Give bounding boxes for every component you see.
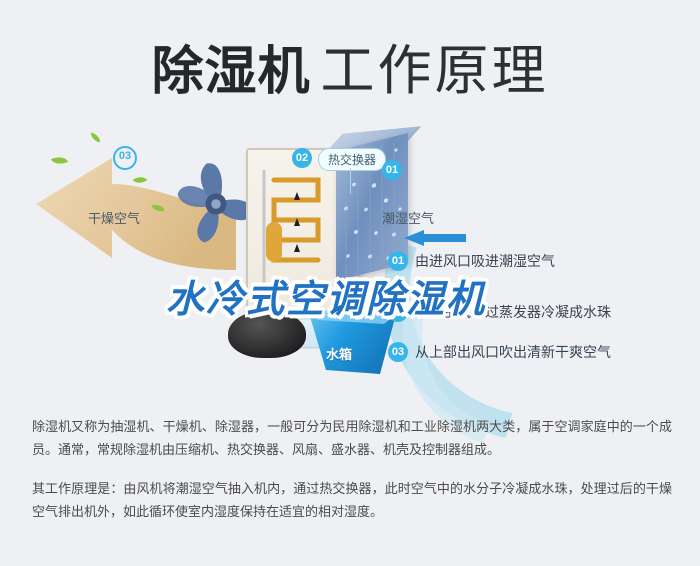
- description-paragraph-1: 除湿机又称为抽湿机、干燥机、除湿器，一般可分为民用除湿机和工业除湿机两大类，属于…: [32, 415, 672, 461]
- page-title-primary: 除湿机: [151, 43, 310, 101]
- watermark-text: 水冷式空调除湿机: [166, 268, 486, 323]
- callout-tail: [350, 168, 351, 194]
- page-title-secondary: 工作原理: [321, 41, 549, 101]
- label-dry-air: 干燥空气: [88, 208, 140, 227]
- badge-heat-exchanger: 02: [292, 148, 312, 168]
- label-water-tank: 水箱: [326, 344, 352, 363]
- infographic-page: 除湿机工作原理: [0, 0, 700, 566]
- page-title: 除湿机工作原理: [0, 26, 700, 105]
- watermark-label: 水冷式空调除湿机: [166, 279, 486, 321]
- leaf-icon-2: [89, 132, 102, 142]
- step-badge-03: 03: [388, 342, 408, 362]
- label-humid-air: 潮湿空气: [382, 208, 434, 227]
- step-row-3: 03 从上部出风口吹出清新干爽空气: [388, 342, 611, 362]
- badge-dry-air: 03: [113, 146, 137, 170]
- air-inlet-arrow-icon: [404, 230, 466, 246]
- step-text-03: 从上部出风口吹出清新干爽空气: [415, 342, 611, 362]
- description-block: 除湿机又称为抽湿机、干燥机、除湿器，一般可分为民用除湿机和工业除湿机两大类，属于…: [32, 415, 672, 539]
- badge-humid-air: 01: [382, 160, 402, 180]
- description-paragraph-2: 其工作原理是：由风机将潮湿空气抽入机内，通过热交换器，此时空气中的水分子冷凝成水…: [32, 477, 672, 523]
- label-heat-exchanger: 热交换器: [318, 148, 386, 171]
